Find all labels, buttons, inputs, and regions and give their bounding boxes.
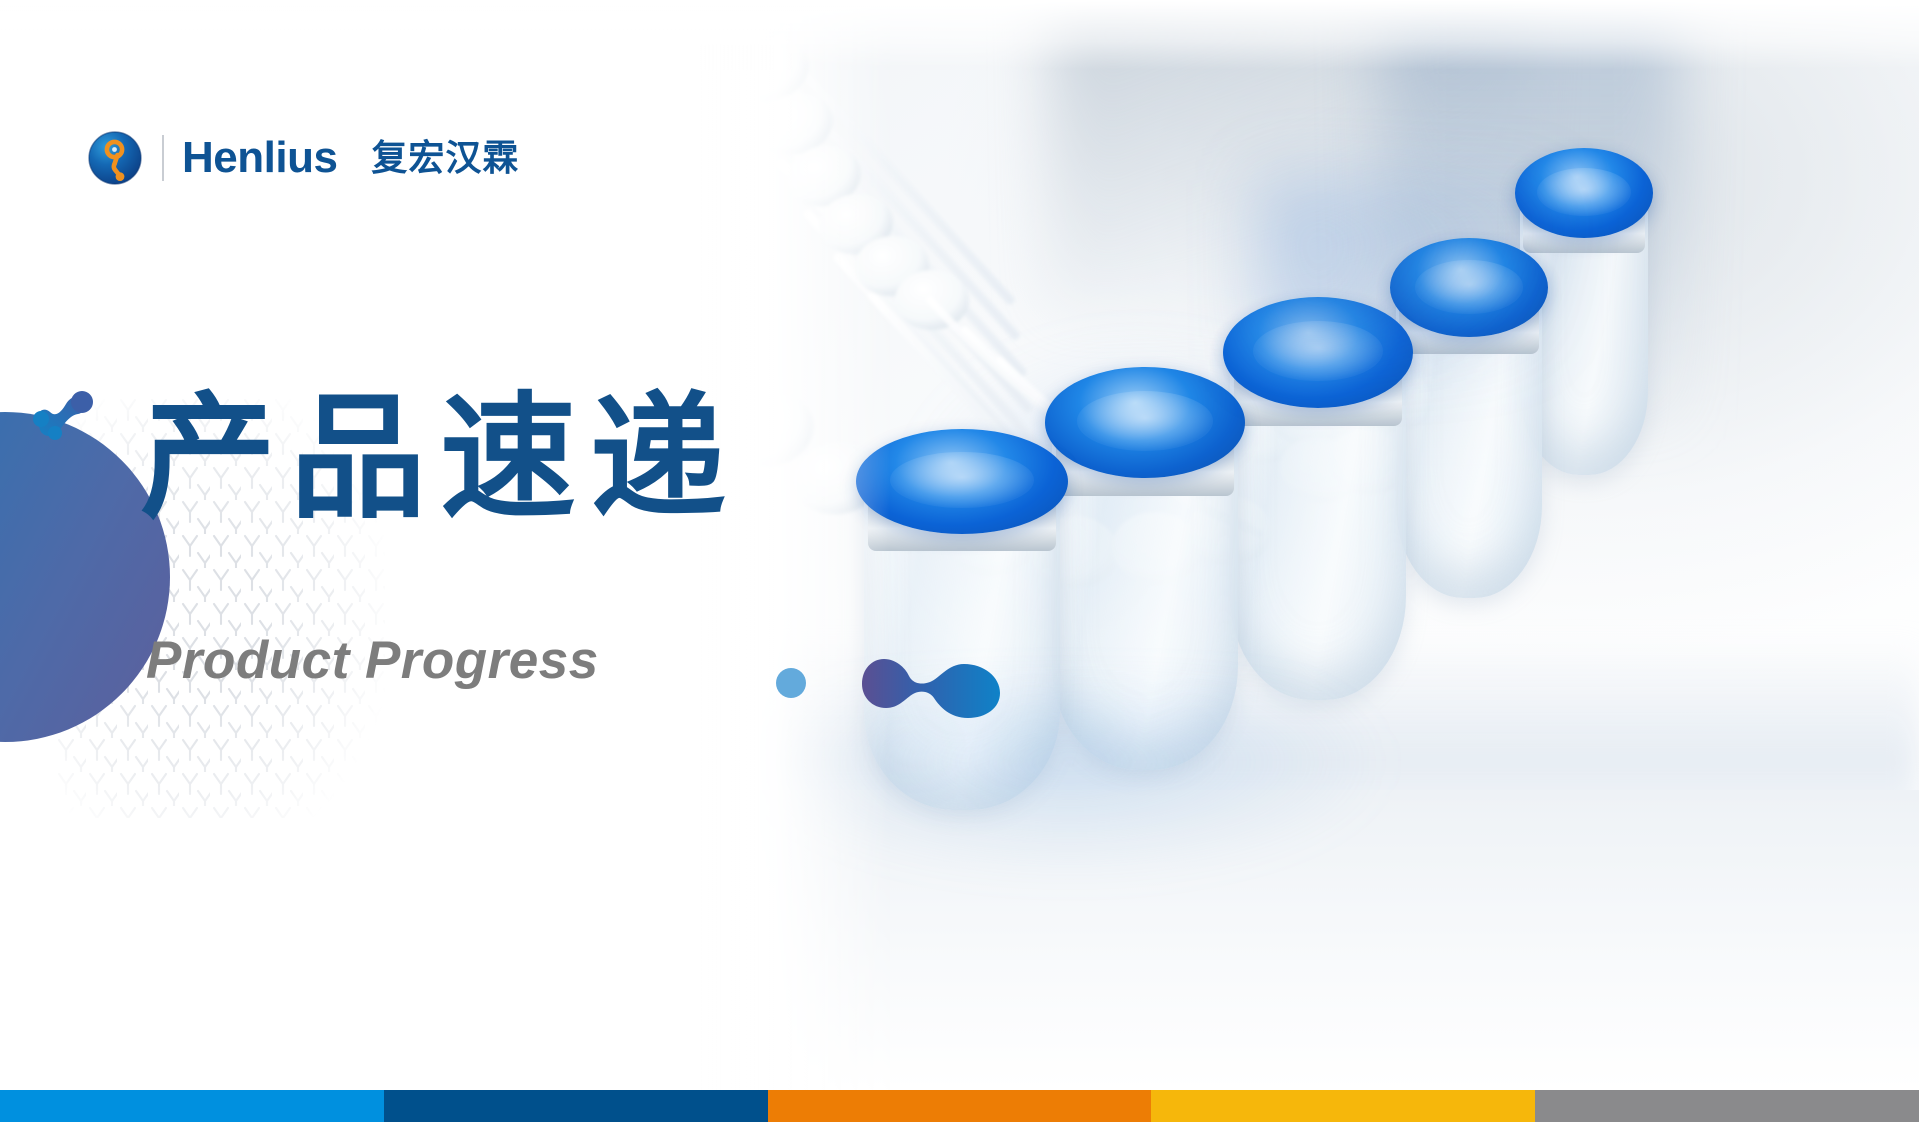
brand-logo[interactable]: Henlius 复宏汉霖 bbox=[88, 128, 519, 188]
photo-left-fade bbox=[700, 0, 890, 1090]
henlius-molecule-logo-icon bbox=[88, 131, 142, 185]
vial-3 bbox=[1230, 330, 1406, 700]
color-segment-gold bbox=[1151, 1090, 1535, 1122]
photo-top-fade bbox=[0, 0, 1919, 70]
accent-dot bbox=[776, 668, 806, 698]
color-segment-gray bbox=[1535, 1090, 1919, 1122]
page-subtitle: Product Progress bbox=[146, 630, 599, 691]
lab-vials-dna-helix-photo bbox=[760, 0, 1919, 1090]
brand-name-en: Henlius bbox=[182, 136, 337, 180]
color-segment-orange bbox=[768, 1090, 1152, 1122]
molecule-icon-small bbox=[30, 388, 100, 444]
molecule-icon-large bbox=[860, 648, 1012, 718]
color-segment-dark-blue bbox=[384, 1090, 768, 1122]
page-title: 产品速递 bbox=[140, 378, 740, 538]
brand-color-bar bbox=[0, 1090, 1919, 1122]
color-segment-light-blue bbox=[0, 1090, 384, 1122]
logo-divider bbox=[162, 135, 164, 181]
brand-name-cn: 复宏汉霖 bbox=[371, 140, 519, 176]
slide-root: Henlius 复宏汉霖 产品速递 Product Progress bbox=[0, 0, 1919, 1122]
photo-highlight-blue bbox=[1260, 180, 1560, 360]
vial-cap bbox=[1045, 367, 1246, 478]
